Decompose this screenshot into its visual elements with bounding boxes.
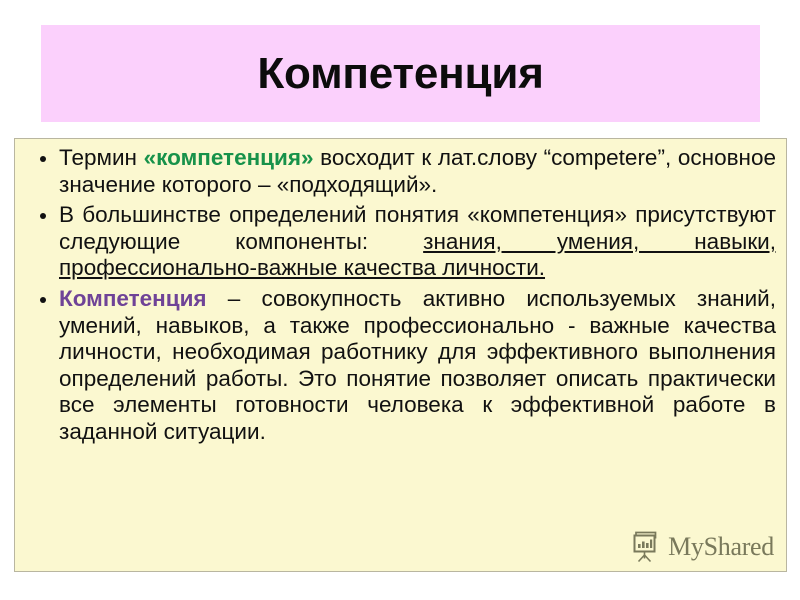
slide-canvas: Компетенция Термин «компетенция» восходи… (0, 0, 800, 600)
list-item: Компетенция – совокупность активно испол… (27, 286, 776, 446)
bullet-3-highlight-term: Компетенция (59, 286, 207, 311)
slide-content-box: Термин «компетенция» восходит к лат.слов… (14, 138, 787, 572)
bullet-1-highlight-term: «компетенция» (144, 145, 314, 170)
list-item: В большинстве определений понятия «компе… (27, 202, 776, 282)
list-item: Термин «компетенция» восходит к лат.слов… (27, 145, 776, 198)
bullet-list: Термин «компетенция» восходит к лат.слов… (27, 145, 776, 446)
presentation-board-icon (633, 531, 663, 563)
slide-title-banner: Компетенция (41, 25, 760, 122)
bullet-1-lead: Термин (59, 145, 144, 170)
watermark-label: MyShared (668, 534, 774, 560)
watermark: MyShared (633, 531, 774, 563)
page-title: Компетенция (257, 52, 543, 96)
